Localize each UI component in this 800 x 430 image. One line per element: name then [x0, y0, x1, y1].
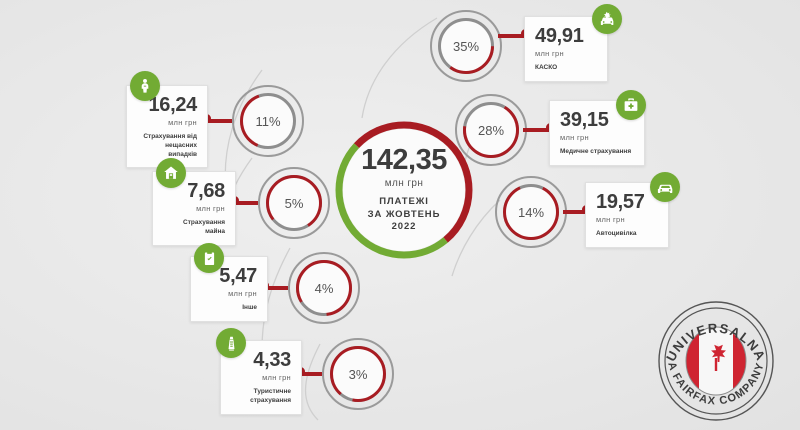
card-unit: млн грн	[596, 215, 658, 224]
card-name-line-2: нещасних випадків	[137, 142, 197, 160]
percent-label: 3%	[349, 367, 368, 382]
segment-ring-medical[interactable]: 28%	[455, 94, 527, 166]
card-name-line-1: Туристичне	[231, 388, 291, 397]
connector-stub-property	[234, 201, 258, 205]
infographic-canvas: 142,35 млн грн ПЛАТЕЖІ ЗА ЖОВТЕНЬ 2022 3…	[0, 0, 800, 430]
total-value: 142,35	[361, 146, 447, 175]
caption-line-1: ПЛАТЕЖІ	[368, 196, 441, 208]
card-unit: млн грн	[137, 118, 197, 127]
card-unit: млн грн	[231, 373, 291, 382]
percent-label: 4%	[315, 281, 334, 296]
total-caption: ПЛАТЕЖІ ЗА ЖОВТЕНЬ 2022	[368, 196, 441, 233]
card-name: Туристичне страхування	[231, 388, 291, 406]
percent-label: 11%	[255, 114, 280, 129]
ring-center: 5%	[269, 178, 319, 228]
caption-line-2: ЗА ЖОВТЕНЬ	[368, 209, 441, 221]
lighthouse-icon	[216, 328, 246, 358]
connector-stub-kasko	[498, 34, 526, 38]
connector-stub-travel	[300, 372, 322, 376]
card-name: Страхування від нещасних випадків	[137, 133, 197, 159]
segment-ring-kasko[interactable]: 35%	[430, 10, 502, 82]
card-unit: млн грн	[163, 204, 225, 213]
card-name-line-2: страхування	[231, 397, 291, 406]
clipboard-icon	[194, 243, 224, 273]
car-crash-icon	[592, 4, 622, 34]
card-name: Інше	[201, 304, 257, 313]
ring-center: 11%	[243, 96, 293, 146]
card-unit: млн грн	[560, 133, 634, 142]
card-unit: млн грн	[201, 289, 257, 298]
card-name: Страхування майна	[163, 219, 225, 237]
segment-ring-property[interactable]: 5%	[258, 167, 330, 239]
total-unit: млн грн	[385, 178, 424, 189]
medical-bag-icon	[616, 90, 646, 120]
ring-center: 35%	[441, 21, 491, 71]
card-value: 19,57	[596, 192, 658, 212]
percent-label: 28%	[478, 123, 504, 138]
card-name: Медичне страхування	[560, 148, 634, 157]
segment-ring-travel[interactable]: 3%	[322, 338, 394, 410]
caption-line-3: 2022	[368, 221, 441, 233]
card-name: Автоцивілка	[596, 230, 658, 239]
percent-label: 35%	[453, 39, 479, 54]
connector-stub-motor-liability	[563, 210, 587, 214]
ring-center: 3%	[333, 349, 383, 399]
percent-label: 5%	[285, 196, 304, 211]
car-icon	[650, 172, 680, 202]
ring-center: 28%	[466, 105, 516, 155]
ring-center: 14%	[506, 187, 556, 237]
segment-ring-other[interactable]: 4%	[288, 252, 360, 324]
segment-ring-accident[interactable]: 11%	[232, 85, 304, 157]
ring-center: 4%	[299, 263, 349, 313]
person-icon	[130, 71, 160, 101]
connector-stub-accident	[206, 119, 232, 123]
segment-ring-motor-liability[interactable]: 14%	[495, 176, 567, 248]
card-name: КАСКО	[535, 64, 597, 73]
central-hub-content: 142,35 млн грн ПЛАТЕЖІ ЗА ЖОВТЕНЬ 2022	[343, 129, 465, 251]
percent-label: 14%	[518, 205, 544, 220]
universalna-logo: UNIVERSALNA A FAIRFAX COMPANY	[652, 300, 780, 422]
card-value: 49,91	[535, 26, 597, 46]
connector-stub-medical	[523, 128, 551, 132]
card-name-line-1: Страхування від	[137, 133, 197, 142]
house-icon	[156, 158, 186, 188]
card-unit: млн грн	[535, 49, 597, 58]
